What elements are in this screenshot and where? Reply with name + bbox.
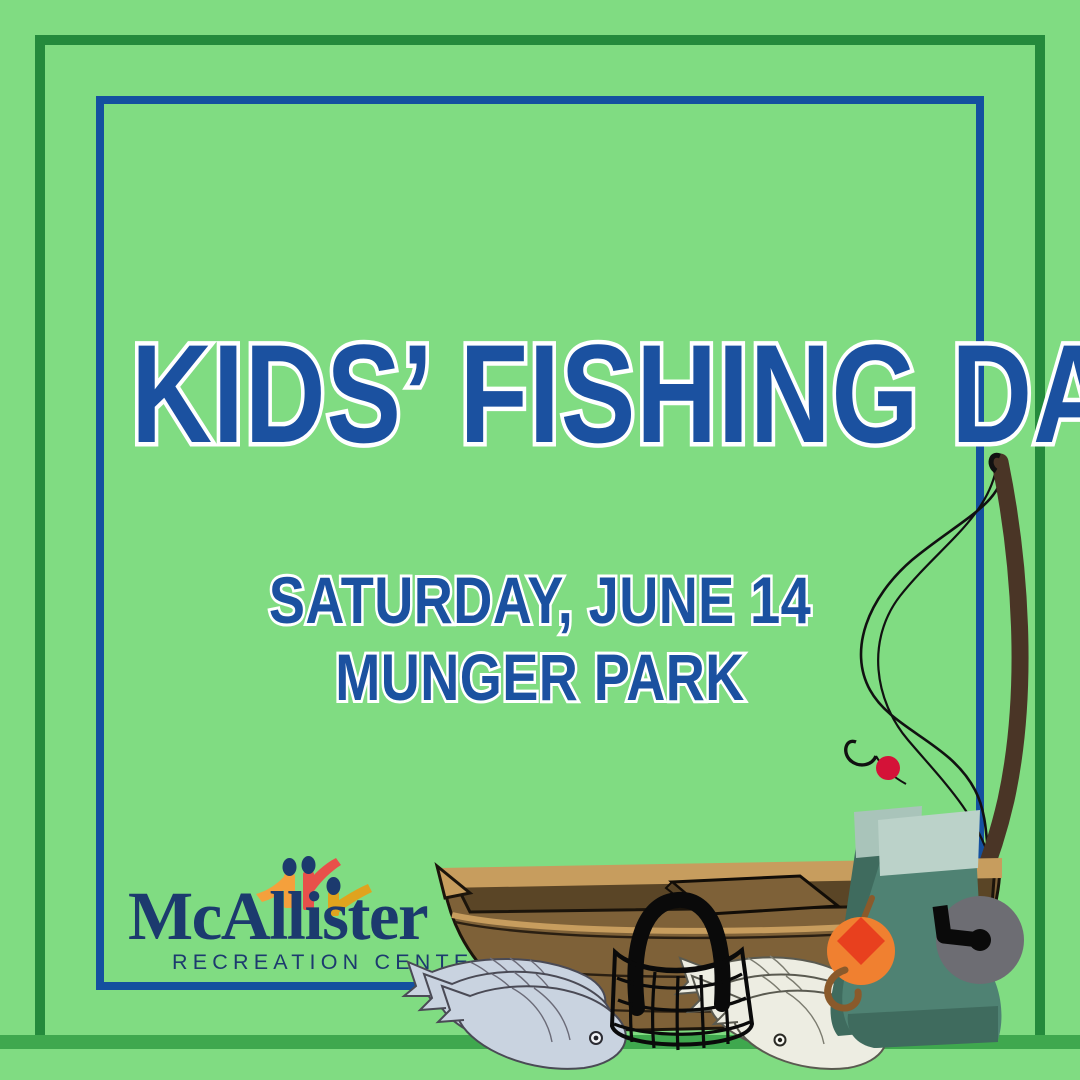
fishing-reel (936, 896, 1024, 984)
mcallister-logo: McAllister RECREATION CENTER (128, 862, 438, 972)
event-date: SATURDAY, JUNE 14 (97, 565, 983, 636)
bobber-float (827, 898, 895, 1008)
poster-canvas: KIDS’ FISHING DAY SATURDAY, JUNE 14 MUNG… (0, 0, 1080, 1080)
rowboat (437, 858, 1002, 1030)
rubber-boots (831, 806, 1002, 1048)
fish-group-right (676, 956, 887, 1069)
mesh-creel-basket (612, 900, 752, 1050)
page-title: KIDS’ FISHING DAY (131, 330, 1080, 459)
bait-bead (876, 756, 900, 780)
inner-blue-frame (96, 96, 984, 990)
headline-block: KIDS’ FISHING DAY (0, 330, 1080, 459)
fishing-rod (846, 455, 1020, 985)
logo-wordmark: McAllister (128, 882, 427, 951)
ground-strip (0, 1035, 1080, 1049)
logo-tagline: RECREATION CENTER (172, 950, 494, 975)
event-venue: MUNGER PARK (97, 642, 983, 713)
event-details-block: SATURDAY, JUNE 14 MUNGER PARK (0, 565, 1080, 720)
